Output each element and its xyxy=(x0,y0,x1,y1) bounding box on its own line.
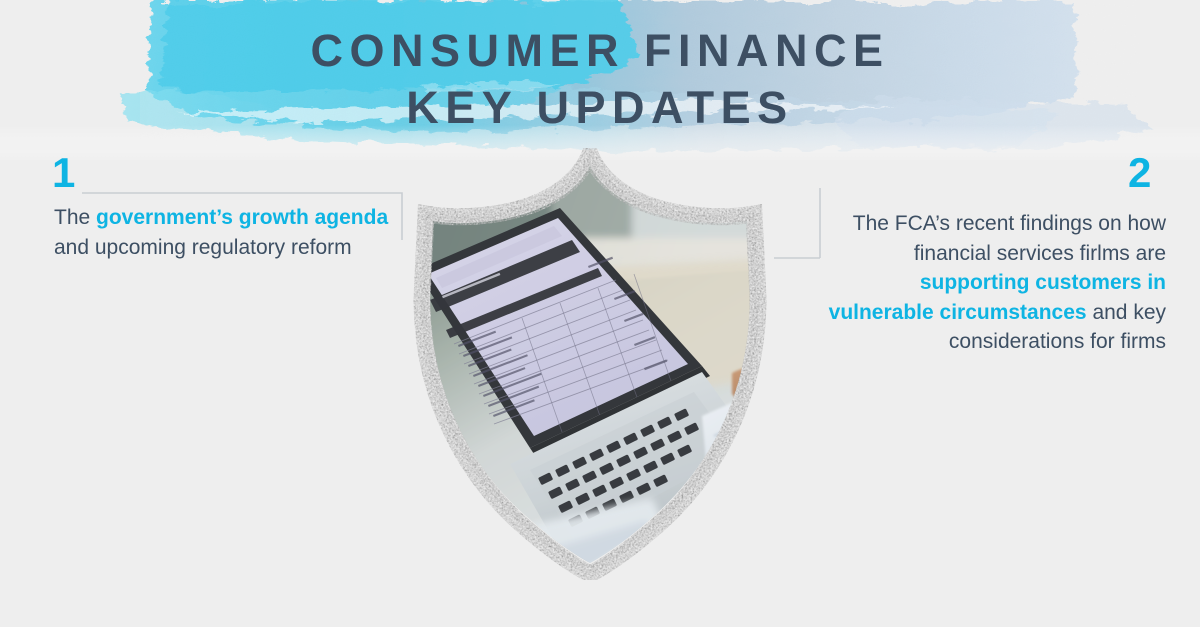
item-1-seg-1: government’s growth agenda xyxy=(96,206,388,229)
item-1-seg-0: The xyxy=(54,206,96,229)
shield-graphic xyxy=(402,148,782,580)
title-line-2: KEY UPDATES xyxy=(0,79,1200,136)
item-1-seg-2: and upcoming regulatory reform xyxy=(54,236,352,259)
item-text-1: The government’s growth agenda and upcom… xyxy=(54,203,406,262)
title-line-1: CONSUMER FINANCE xyxy=(0,22,1200,79)
infographic-canvas: CONSUMER FINANCE KEY UPDATES xyxy=(0,0,1200,627)
item-number-2: 2 xyxy=(1128,152,1151,194)
page-title: CONSUMER FINANCE KEY UPDATES xyxy=(0,22,1200,136)
item-number-1: 1 xyxy=(52,152,75,194)
item-text-2: The FCA’s recent findings on how financi… xyxy=(826,209,1166,357)
item-2-seg-0: The FCA’s recent findings on how financi… xyxy=(853,212,1166,265)
